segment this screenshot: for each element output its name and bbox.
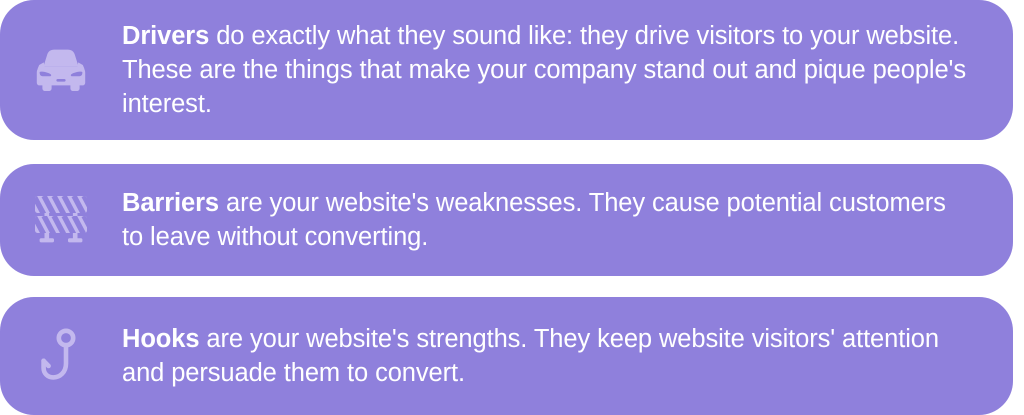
fish-hook-icon bbox=[39, 327, 83, 385]
cards-board: Drivers do exactly what they sound like:… bbox=[0, 0, 1024, 415]
card-hooks-lead: Hooks bbox=[122, 325, 199, 353]
card-drivers-body: do exactly what they sound like: they dr… bbox=[122, 22, 966, 118]
card-hooks: Hooks are your website's strengths. They… bbox=[0, 297, 1013, 415]
car-icon bbox=[29, 44, 93, 96]
card-drivers-text: Drivers do exactly what they sound like:… bbox=[122, 19, 1013, 121]
card-drivers-lead: Drivers bbox=[122, 22, 209, 50]
card-barriers: Barriers are your website's weaknesses. … bbox=[0, 164, 1013, 276]
card-drivers: Drivers do exactly what they sound like:… bbox=[0, 0, 1013, 140]
road-barrier-icon bbox=[32, 192, 90, 248]
card-hooks-icon-slot bbox=[0, 297, 122, 415]
card-hooks-body: are your website's strengths. They keep … bbox=[122, 325, 939, 387]
card-drivers-icon-slot bbox=[0, 0, 122, 140]
card-barriers-icon-slot bbox=[0, 164, 122, 276]
card-barriers-lead: Barriers bbox=[122, 189, 219, 217]
card-hooks-text: Hooks are your website's strengths. They… bbox=[122, 322, 1013, 390]
card-barriers-text: Barriers are your website's weaknesses. … bbox=[122, 186, 1013, 254]
card-barriers-body: are your website's weaknesses. They caus… bbox=[122, 189, 946, 251]
